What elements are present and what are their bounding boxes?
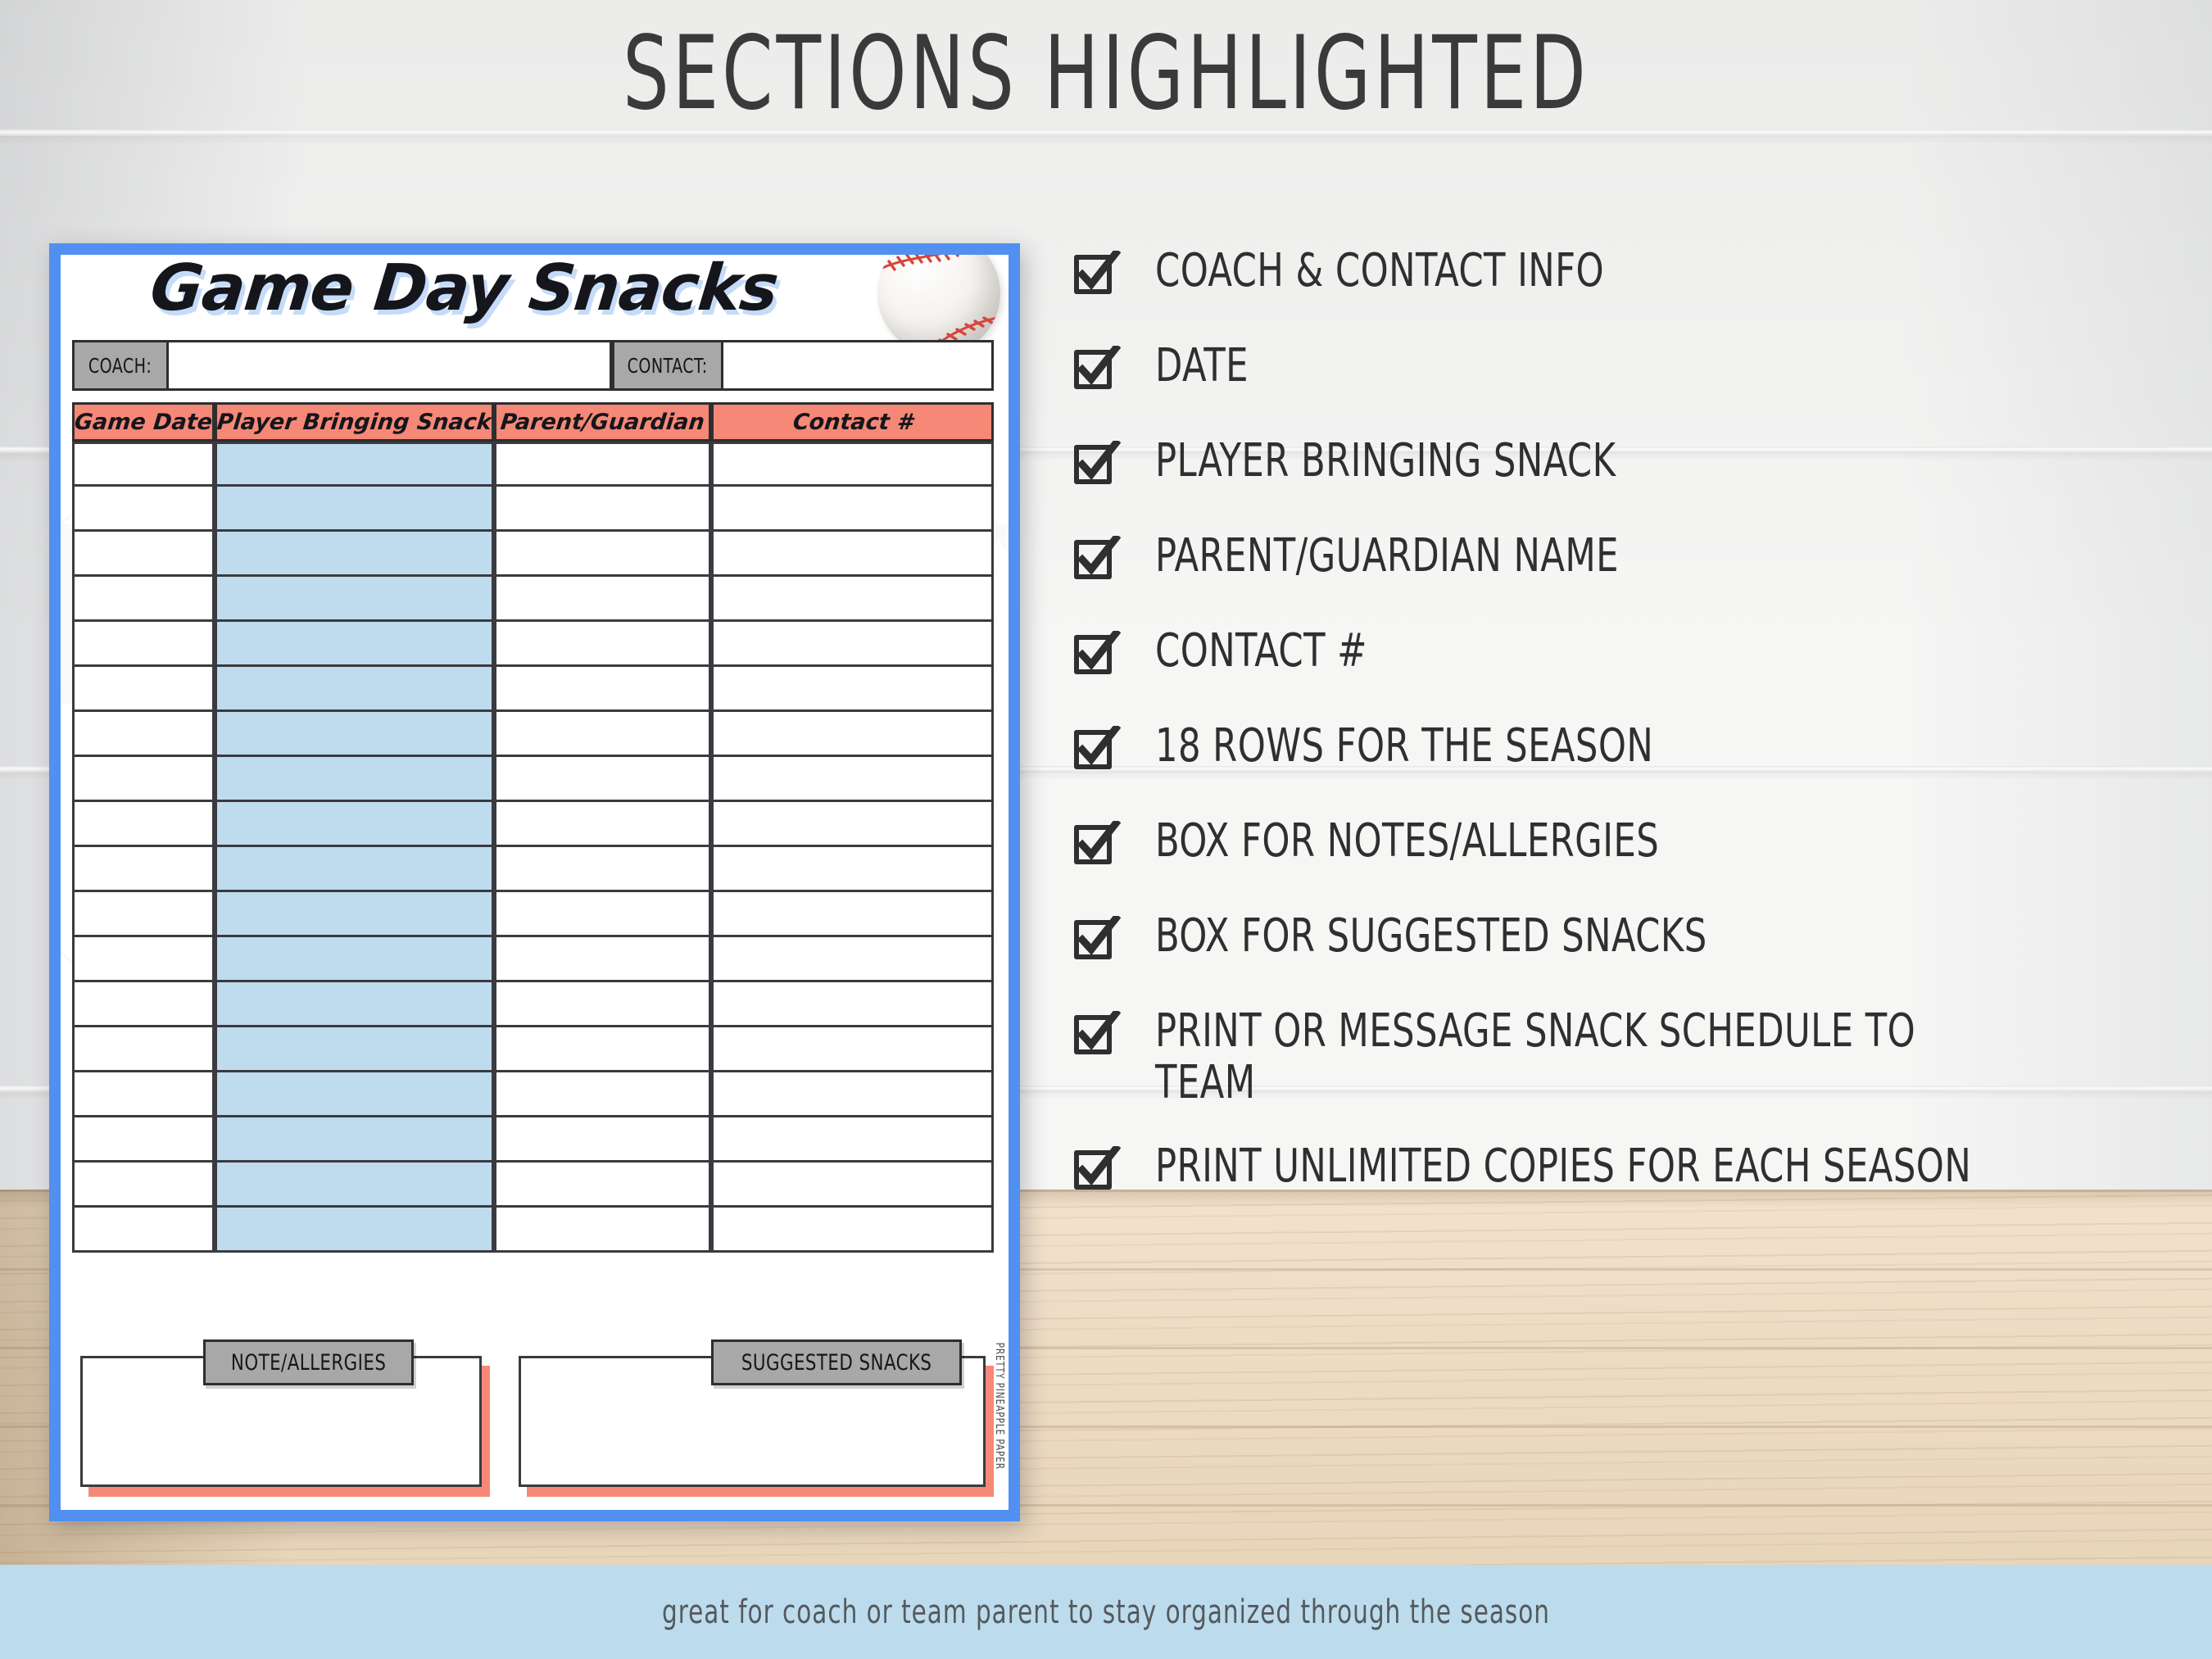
table-row bbox=[72, 1027, 994, 1072]
table-cell[interactable] bbox=[711, 622, 994, 667]
table-cell[interactable] bbox=[494, 667, 711, 712]
checklist-item-label: PLAYER BRINGING SNACK bbox=[1155, 436, 1616, 487]
checkbox-checked-icon[interactable] bbox=[1073, 726, 1121, 773]
table-cell[interactable] bbox=[711, 982, 994, 1027]
cell-player-bringing-snack[interactable] bbox=[215, 802, 494, 847]
table-cell[interactable] bbox=[72, 1163, 215, 1208]
cell-player-bringing-snack[interactable] bbox=[215, 1163, 494, 1208]
printable-title: Game Day Snacks bbox=[147, 255, 781, 325]
table-row bbox=[72, 667, 994, 712]
checkbox-checked-icon[interactable] bbox=[1073, 536, 1121, 583]
cell-player-bringing-snack[interactable] bbox=[215, 712, 494, 757]
table-cell[interactable] bbox=[72, 1208, 215, 1253]
checklist-item-4[interactable]: PARENT/GUARDIAN NAME bbox=[1073, 531, 2171, 583]
checklist-item-label: BOX FOR NOTES/ALLERGIES bbox=[1155, 816, 1659, 868]
table-row bbox=[72, 442, 994, 487]
table-cell[interactable] bbox=[711, 847, 994, 892]
table-cell[interactable] bbox=[711, 712, 994, 757]
table-row bbox=[72, 757, 994, 802]
page-title: SECTIONS HIGHLIGHTED bbox=[221, 15, 1991, 133]
checklist-item-label: PRINT UNLIMITED COPIES FOR EACH SEASON bbox=[1155, 1141, 1971, 1193]
coach-contact-row: COACH: CONTACT: bbox=[72, 340, 994, 391]
table-cell[interactable] bbox=[711, 1117, 994, 1163]
table-cell[interactable] bbox=[72, 667, 215, 712]
cell-player-bringing-snack[interactable] bbox=[215, 1072, 494, 1117]
table-row bbox=[72, 1072, 994, 1117]
printable-sheet: PRETTY Game Day Snacks bbox=[61, 255, 1009, 1510]
table-cell[interactable] bbox=[494, 622, 711, 667]
checkbox-checked-icon[interactable] bbox=[1073, 346, 1121, 393]
table-cell[interactable] bbox=[711, 1072, 994, 1117]
table-cell[interactable] bbox=[711, 487, 994, 532]
table-row bbox=[72, 1208, 994, 1253]
coach-label: COACH: bbox=[72, 340, 169, 391]
table-row bbox=[72, 937, 994, 982]
contact-label: CONTACT: bbox=[612, 340, 723, 391]
cell-player-bringing-snack[interactable] bbox=[215, 982, 494, 1027]
table-cell[interactable] bbox=[72, 442, 215, 487]
table-cell[interactable] bbox=[494, 442, 711, 487]
table-row bbox=[72, 892, 994, 937]
note-allergies-label: NOTE/ALLERGIES bbox=[203, 1339, 414, 1385]
cell-player-bringing-snack[interactable] bbox=[215, 622, 494, 667]
checkbox-checked-icon[interactable] bbox=[1073, 1011, 1121, 1058]
table-cell[interactable] bbox=[72, 892, 215, 937]
table-cell[interactable] bbox=[711, 802, 994, 847]
table-cell[interactable] bbox=[711, 937, 994, 982]
table-row bbox=[72, 847, 994, 892]
checkbox-checked-icon[interactable] bbox=[1073, 1146, 1121, 1194]
table-row bbox=[72, 1117, 994, 1163]
table-cell[interactable] bbox=[72, 757, 215, 802]
footer-caption-bar: great for coach or team parent to stay o… bbox=[0, 1565, 2212, 1659]
table-cell[interactable] bbox=[72, 487, 215, 532]
table-cell[interactable] bbox=[494, 577, 711, 622]
table-cell[interactable] bbox=[711, 577, 994, 622]
checklist-item-6[interactable]: 18 ROWS FOR THE SEASON bbox=[1073, 721, 2171, 773]
table-cell[interactable] bbox=[72, 577, 215, 622]
checklist-item-2[interactable]: DATE bbox=[1073, 341, 2171, 393]
table-cell[interactable] bbox=[494, 1072, 711, 1117]
table-cell[interactable] bbox=[494, 712, 711, 757]
column-header-game-date: Game Date bbox=[72, 402, 215, 442]
printable-preview: PRETTY Game Day Snacks bbox=[49, 243, 1020, 1521]
table-cell[interactable] bbox=[72, 847, 215, 892]
checklist-item-3[interactable]: PLAYER BRINGING SNACK bbox=[1073, 436, 2171, 488]
contact-input[interactable] bbox=[723, 340, 994, 391]
cell-player-bringing-snack[interactable] bbox=[215, 892, 494, 937]
table-cell[interactable] bbox=[711, 892, 994, 937]
table-row bbox=[72, 487, 994, 532]
checklist-item-9[interactable]: PRINT OR MESSAGE SNACK SCHEDULE TO TEAM bbox=[1073, 1006, 2171, 1108]
cell-player-bringing-snack[interactable] bbox=[215, 1117, 494, 1163]
cell-player-bringing-snack[interactable] bbox=[215, 577, 494, 622]
checklist-item-label: PARENT/GUARDIAN NAME bbox=[1155, 531, 1619, 582]
table-cell[interactable] bbox=[711, 1163, 994, 1208]
table-cell[interactable] bbox=[494, 937, 711, 982]
checkbox-checked-icon[interactable] bbox=[1073, 441, 1121, 488]
table-cell[interactable] bbox=[72, 1027, 215, 1072]
bottom-boxes: NOTE/ALLERGIES SUGGESTED SNACKS bbox=[72, 1341, 994, 1489]
brand-watermark: PRETTY PINEAPPLE PAPER bbox=[993, 1343, 1005, 1470]
table-cell[interactable] bbox=[72, 1117, 215, 1163]
table-cell[interactable] bbox=[711, 667, 994, 712]
column-header-player-bringing-snack: Player Bringing Snack bbox=[215, 402, 494, 442]
table-row bbox=[72, 577, 994, 622]
table-cell[interactable] bbox=[494, 982, 711, 1027]
checklist-item-label: BOX FOR SUGGESTED SNACKS bbox=[1155, 911, 1707, 963]
table-cell[interactable] bbox=[494, 1117, 711, 1163]
cell-player-bringing-snack[interactable] bbox=[215, 1027, 494, 1072]
table-row bbox=[72, 712, 994, 757]
table-cell[interactable] bbox=[711, 442, 994, 487]
suggested-snacks-label: SUGGESTED SNACKS bbox=[711, 1339, 962, 1385]
checklist-item-7[interactable]: BOX FOR NOTES/ALLERGIES bbox=[1073, 816, 2171, 868]
cell-player-bringing-snack[interactable] bbox=[215, 667, 494, 712]
table-cell[interactable] bbox=[494, 532, 711, 577]
checklist-item-label: 18 ROWS FOR THE SEASON bbox=[1155, 721, 1653, 773]
table-body bbox=[72, 442, 994, 1253]
table-cell[interactable] bbox=[711, 757, 994, 802]
checklist-item-label: COACH & CONTACT INFO bbox=[1155, 246, 1604, 297]
checklist-item-1[interactable]: COACH & CONTACT INFO bbox=[1073, 246, 2171, 298]
table-cell[interactable] bbox=[72, 712, 215, 757]
checkbox-checked-icon[interactable] bbox=[1073, 251, 1121, 298]
printable-header: Game Day Snacks bbox=[61, 255, 1009, 343]
table-cell[interactable] bbox=[72, 622, 215, 667]
table-cell[interactable] bbox=[494, 1208, 711, 1253]
checklist-item-label: PRINT OR MESSAGE SNACK SCHEDULE TO TEAM bbox=[1155, 1006, 1915, 1108]
table-header-row: Game Date Player Bringing Snack Parent/G… bbox=[72, 402, 994, 442]
table-cell[interactable] bbox=[494, 802, 711, 847]
checklist-item-label: DATE bbox=[1155, 341, 1249, 392]
cell-player-bringing-snack[interactable] bbox=[215, 532, 494, 577]
checklist-item-label: CONTACT # bbox=[1155, 626, 1367, 678]
table-row bbox=[72, 622, 994, 667]
note-allergies-box[interactable]: NOTE/ALLERGIES bbox=[80, 1356, 482, 1487]
cell-player-bringing-snack[interactable] bbox=[215, 937, 494, 982]
table-row bbox=[72, 802, 994, 847]
table-cell[interactable] bbox=[711, 1027, 994, 1072]
table-cell[interactable] bbox=[494, 1027, 711, 1072]
table-cell[interactable] bbox=[494, 1163, 711, 1208]
table-row bbox=[72, 982, 994, 1027]
checkbox-checked-icon[interactable] bbox=[1073, 631, 1121, 678]
checklist-item-5[interactable]: CONTACT # bbox=[1073, 626, 2171, 678]
table-cell[interactable] bbox=[711, 1208, 994, 1253]
cell-player-bringing-snack[interactable] bbox=[215, 757, 494, 802]
table-cell[interactable] bbox=[72, 802, 215, 847]
cell-player-bringing-snack[interactable] bbox=[215, 487, 494, 532]
feature-checklist: COACH & CONTACT INFODATEPLAYER BRINGING … bbox=[1073, 246, 2171, 1236]
cell-player-bringing-snack[interactable] bbox=[215, 442, 494, 487]
table-cell[interactable] bbox=[494, 892, 711, 937]
table-cell[interactable] bbox=[72, 937, 215, 982]
coach-input[interactable] bbox=[169, 340, 612, 391]
table-row bbox=[72, 1163, 994, 1208]
table-cell[interactable] bbox=[494, 847, 711, 892]
table-row bbox=[72, 532, 994, 577]
cell-player-bringing-snack[interactable] bbox=[215, 847, 494, 892]
footer-caption-text: great for coach or team parent to stay o… bbox=[662, 1593, 1550, 1631]
column-header-parent-guardian: Parent/Guardian bbox=[494, 402, 711, 442]
column-header-contact-number: Contact # bbox=[711, 402, 994, 442]
checkbox-checked-icon[interactable] bbox=[1073, 821, 1121, 868]
checklist-item-10[interactable]: PRINT UNLIMITED COPIES FOR EACH SEASON bbox=[1073, 1141, 2171, 1194]
table-cell[interactable] bbox=[711, 532, 994, 577]
cell-player-bringing-snack[interactable] bbox=[215, 1208, 494, 1253]
table-cell[interactable] bbox=[494, 487, 711, 532]
suggested-snacks-box[interactable]: SUGGESTED SNACKS bbox=[519, 1356, 986, 1487]
table-cell[interactable] bbox=[72, 1072, 215, 1117]
checkbox-checked-icon[interactable] bbox=[1073, 916, 1121, 963]
table-cell[interactable] bbox=[494, 757, 711, 802]
table-cell[interactable] bbox=[72, 532, 215, 577]
table-cell[interactable] bbox=[72, 982, 215, 1027]
checklist-item-8[interactable]: BOX FOR SUGGESTED SNACKS bbox=[1073, 911, 2171, 963]
snack-schedule-table: Game Date Player Bringing Snack Parent/G… bbox=[72, 402, 994, 1253]
